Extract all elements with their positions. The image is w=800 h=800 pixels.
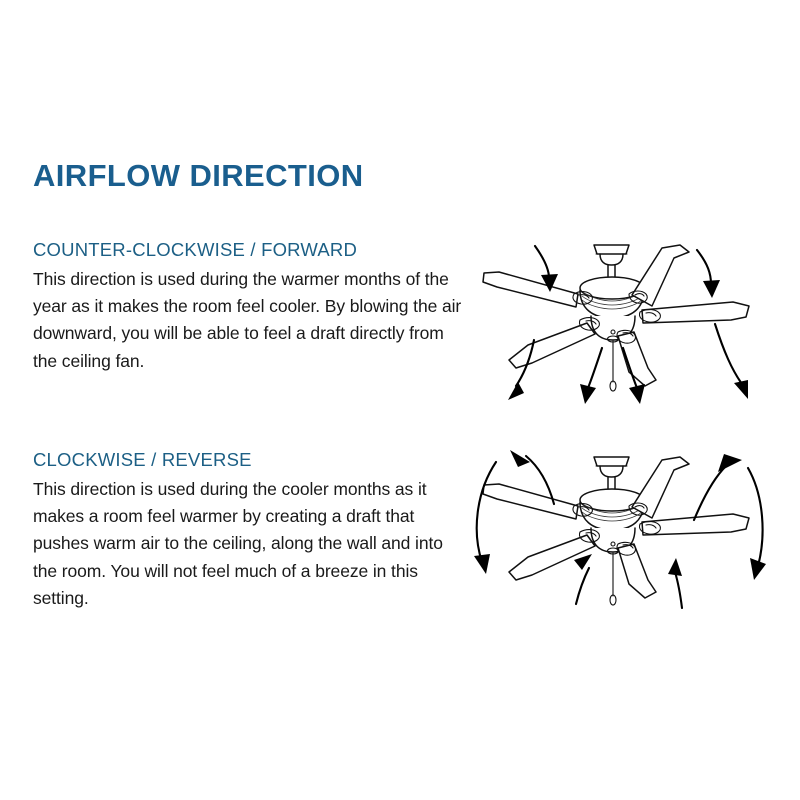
- section-forward-heading: COUNTER-CLOCKWISE / FORWARD: [33, 238, 463, 261]
- section-reverse-heading: CLOCKWISE / REVERSE: [33, 448, 463, 471]
- section-reverse-body: This direction is used during the cooler…: [33, 476, 463, 612]
- section-reverse: CLOCKWISE / REVERSE This direction is us…: [33, 448, 463, 612]
- section-forward-body: This direction is used during the warmer…: [33, 266, 463, 375]
- section-forward: COUNTER-CLOCKWISE / FORWARD This directi…: [33, 238, 463, 375]
- fan-body-reverse: [483, 457, 749, 605]
- ceiling-fan-forward-illustration: [466, 232, 776, 417]
- ceiling-fan-reverse-illustration: [466, 432, 776, 632]
- airflow-direction-page: AIRFLOW DIRECTION COUNTER-CLOCKWISE / FO…: [0, 0, 800, 800]
- page-title: AIRFLOW DIRECTION: [33, 159, 364, 193]
- fan-body-forward: [483, 245, 749, 391]
